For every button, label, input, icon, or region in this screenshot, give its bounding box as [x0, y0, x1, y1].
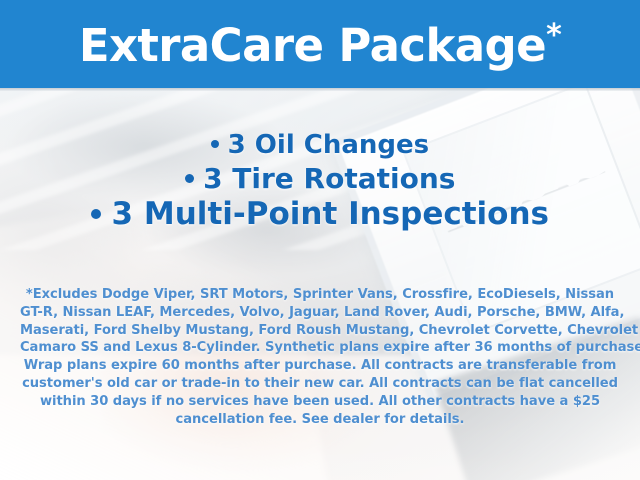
benefit-item-tire-rotations: 3 Tire Rotations — [0, 164, 640, 193]
disclaimer-line: cancellation fee. See dealer for details… — [20, 411, 620, 429]
benefits-list: 3 Oil Changes 3 Tire Rotations 3 Multi-P… — [0, 132, 640, 230]
benefit-item-oil-changes: 3 Oil Changes — [0, 132, 640, 159]
bullet-icon — [211, 140, 219, 148]
disclaimer-line: Maserati, Ford Shelby Mustang, Ford Rous… — [20, 322, 620, 340]
benefit-label: 3 Oil Changes — [228, 130, 430, 160]
page-title-asterisk: * — [546, 18, 561, 53]
disclaimer-line: Wrap plans expire 60 months after purcha… — [20, 357, 620, 375]
disclaimer-line: within 30 days if no services have been … — [20, 393, 620, 411]
header-banner: ExtraCare Package* — [0, 0, 640, 88]
page-title: ExtraCare Package* — [79, 21, 561, 68]
benefit-label: 3 Multi-Point Inspections — [112, 196, 549, 232]
disclaimer-line: *Excludes Dodge Viper, SRT Motors, Sprin… — [20, 286, 620, 304]
bullet-icon — [185, 174, 194, 183]
extracare-package-ad: ExtraCare Package* 3 Oil Changes 3 Tire … — [0, 0, 640, 480]
bullet-icon — [91, 209, 101, 219]
header-divider — [0, 88, 640, 91]
disclaimer-text: *Excludes Dodge Viper, SRT Motors, Sprin… — [20, 286, 620, 428]
disclaimer-line: Camaro SS and Lexus 8-Cylinder. Syntheti… — [20, 339, 620, 357]
disclaimer-line: customer's old car or trade-in to their … — [20, 375, 620, 393]
benefit-label: 3 Tire Rotations — [203, 162, 455, 195]
page-title-text: ExtraCare Package — [79, 19, 546, 72]
benefit-item-multi-point-inspections: 3 Multi-Point Inspections — [0, 198, 640, 230]
disclaimer-line: GT-R, Nissan LEAF, Mercedes, Volvo, Jagu… — [20, 304, 620, 322]
